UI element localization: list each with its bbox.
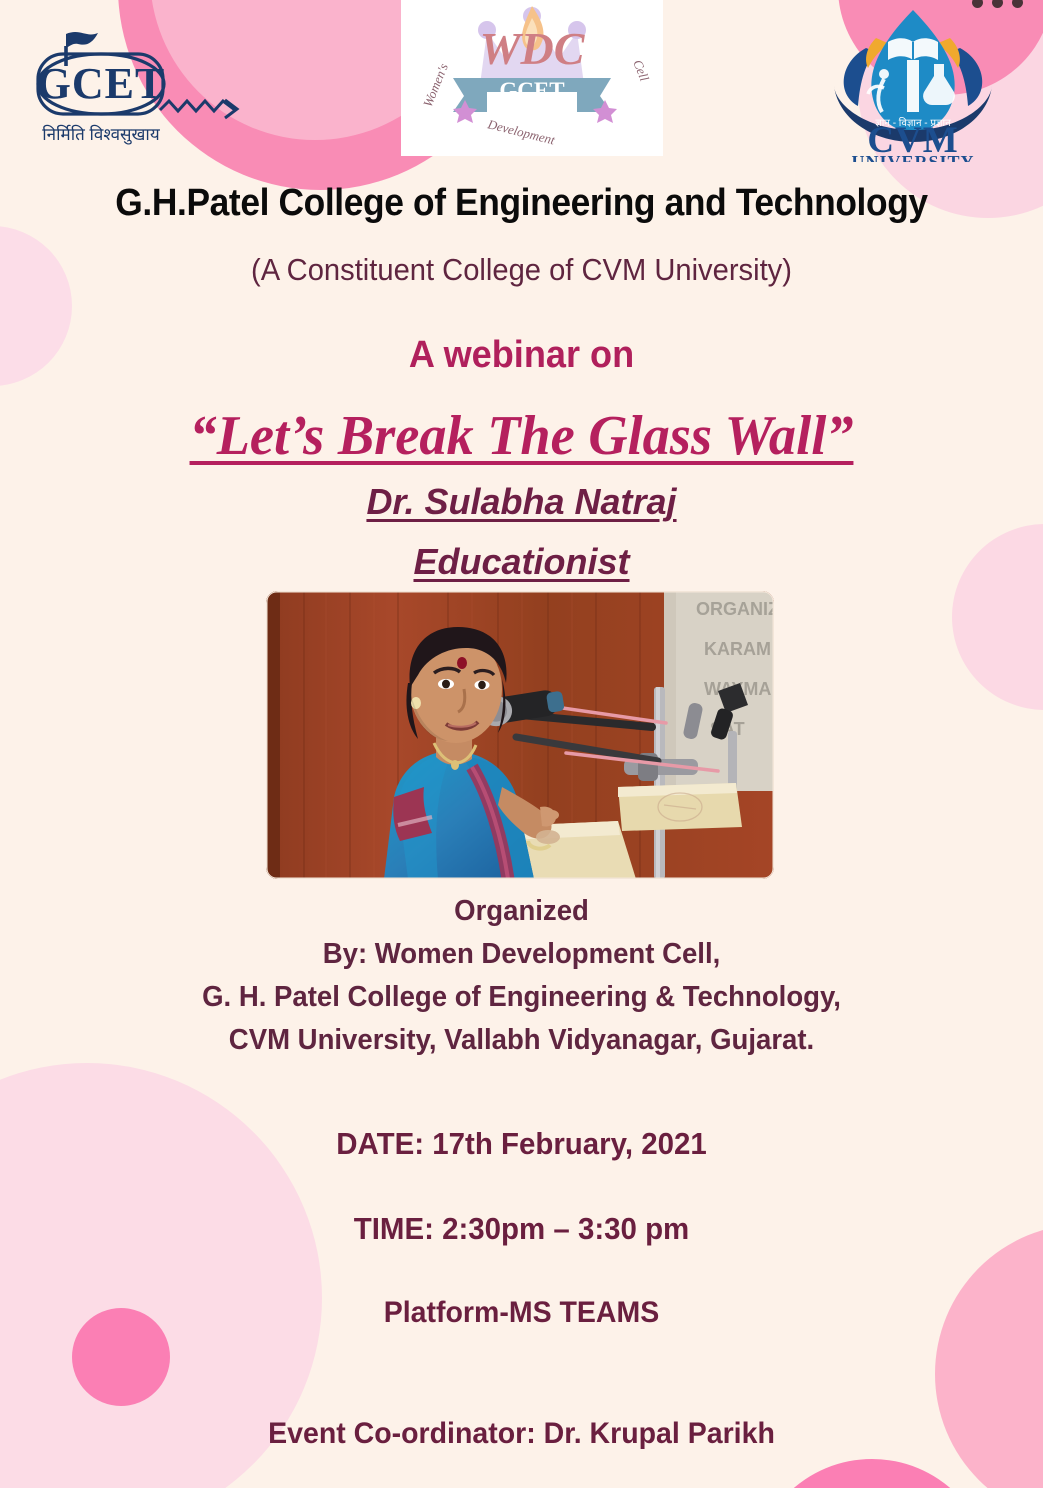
event-time: TIME: 2:30pm – 3:30 pm (26, 1211, 1017, 1247)
decor-circle-bottom-right-hot (752, 1459, 992, 1488)
svg-text:KARAM: KARAM (704, 639, 771, 659)
event-coordinator: Event Co-ordinator: Dr. Krupal Parikh (26, 1417, 1017, 1451)
svg-text:GCET: GCET (37, 59, 166, 108)
svg-text:ORGANIZE: ORGANIZE (696, 599, 774, 619)
college-subtitle: (A Constituent College of CVM University… (31, 252, 1011, 288)
speaker-photo: ORGANIZE KARAM WAYMA SAT (266, 591, 774, 879)
logo-row: GCET निर्मिति विश्वसुखाय WDC (0, 0, 1043, 168)
webinar-title: “Let’s Break The Glass Wall” (16, 404, 1028, 468)
wdc-logo-icon: WDC GCET Women's Cell Development (401, 0, 663, 156)
cvm-university-logo: ज्ञान - विज्ञान - प्रज्ञान CVM UNIVERSIT… (818, 2, 1008, 162)
organizer-line-3: G. H. Patel College of Engineering & Tec… (26, 976, 1017, 1019)
webinar-label: A webinar on (26, 334, 1017, 377)
gcet-tagline: निर्मिति विश्वसुखाय (42, 124, 161, 145)
women-development-cell-logo: WDC GCET Women's Cell Development (401, 0, 663, 156)
gcet-logo: GCET निर्मिति विश्वसुखाय (28, 22, 278, 152)
organized-label: Organized (26, 890, 1017, 933)
speaker-photo-illustration: ORGANIZE KARAM WAYMA SAT (266, 591, 774, 879)
gcet-logo-icon: GCET निर्मिति विश्वसुखाय (28, 22, 278, 152)
organizer-block: Organized By: Women Development Cell, G.… (26, 890, 1017, 1062)
speaker-role: Educationist (0, 541, 1043, 583)
cvm-logo-icon: ज्ञान - विज्ञान - प्रज्ञान CVM UNIVERSIT… (818, 2, 1008, 162)
speaker-name: Dr. Sulabha Natraj (0, 481, 1043, 523)
organizer-line-2: By: Women Development Cell, (26, 933, 1017, 976)
organizer-line-4: CVM University, Vallabh Vidyanagar, Guja… (26, 1019, 1017, 1062)
cvm-wordmark-line2: UNIVERSITY (851, 152, 974, 162)
college-name: G.H.Patel College of Engineering and Tec… (37, 182, 1007, 225)
webinar-poster: GCET निर्मिति विश्वसुखाय WDC (0, 0, 1043, 1488)
event-platform: Platform-MS TEAMS (26, 1296, 1017, 1330)
wdc-monogram: WDC (480, 23, 586, 74)
event-date: DATE: 17th February, 2021 (26, 1126, 1017, 1162)
wdc-ribbon-text: GCET (499, 78, 564, 103)
